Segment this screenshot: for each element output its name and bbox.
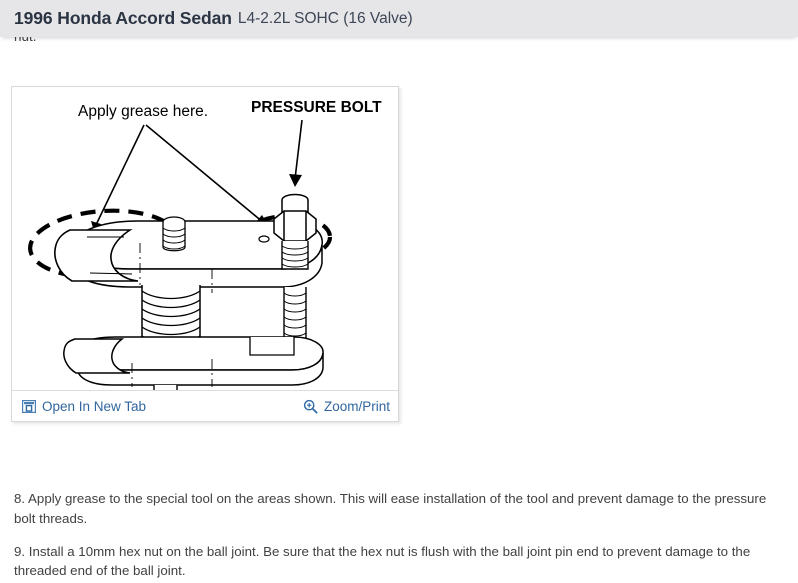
external-link-icon bbox=[22, 400, 36, 413]
open-in-new-tab-label: Open In New Tab bbox=[42, 399, 146, 414]
step-item: 9. Install a 10mm hex nut on the ball jo… bbox=[0, 542, 798, 581]
zoom-print-link[interactable]: Zoom/Print bbox=[303, 399, 390, 414]
diagram-image[interactable]: Apply grease here. PRESSURE BOLT bbox=[12, 87, 398, 391]
figure-panel: Apply grease here. PRESSURE BOLT bbox=[11, 86, 399, 422]
magnifier-plus-icon bbox=[303, 399, 318, 414]
open-in-new-tab-link[interactable]: Open In New Tab bbox=[22, 399, 146, 414]
label-apply-grease: Apply grease here. bbox=[78, 103, 208, 120]
page-title: 1996 Honda Accord Sedan bbox=[14, 8, 232, 29]
zoom-print-label: Zoom/Print bbox=[324, 399, 390, 414]
figure-footer: Open In New Tab Zoom/Print bbox=[12, 390, 398, 421]
engine-spec-label: L4-2.2L SOHC (16 Valve) bbox=[238, 10, 413, 28]
label-pressure-bolt: PRESSURE BOLT bbox=[251, 99, 382, 116]
step-item: 8. Apply grease to the special tool on t… bbox=[0, 489, 798, 528]
procedure-steps: 8. Apply grease to the special tool on t… bbox=[0, 476, 798, 583]
vehicle-header-bar: 1996 Honda Accord Sedan L4-2.2L SOHC (16… bbox=[0, 0, 798, 37]
